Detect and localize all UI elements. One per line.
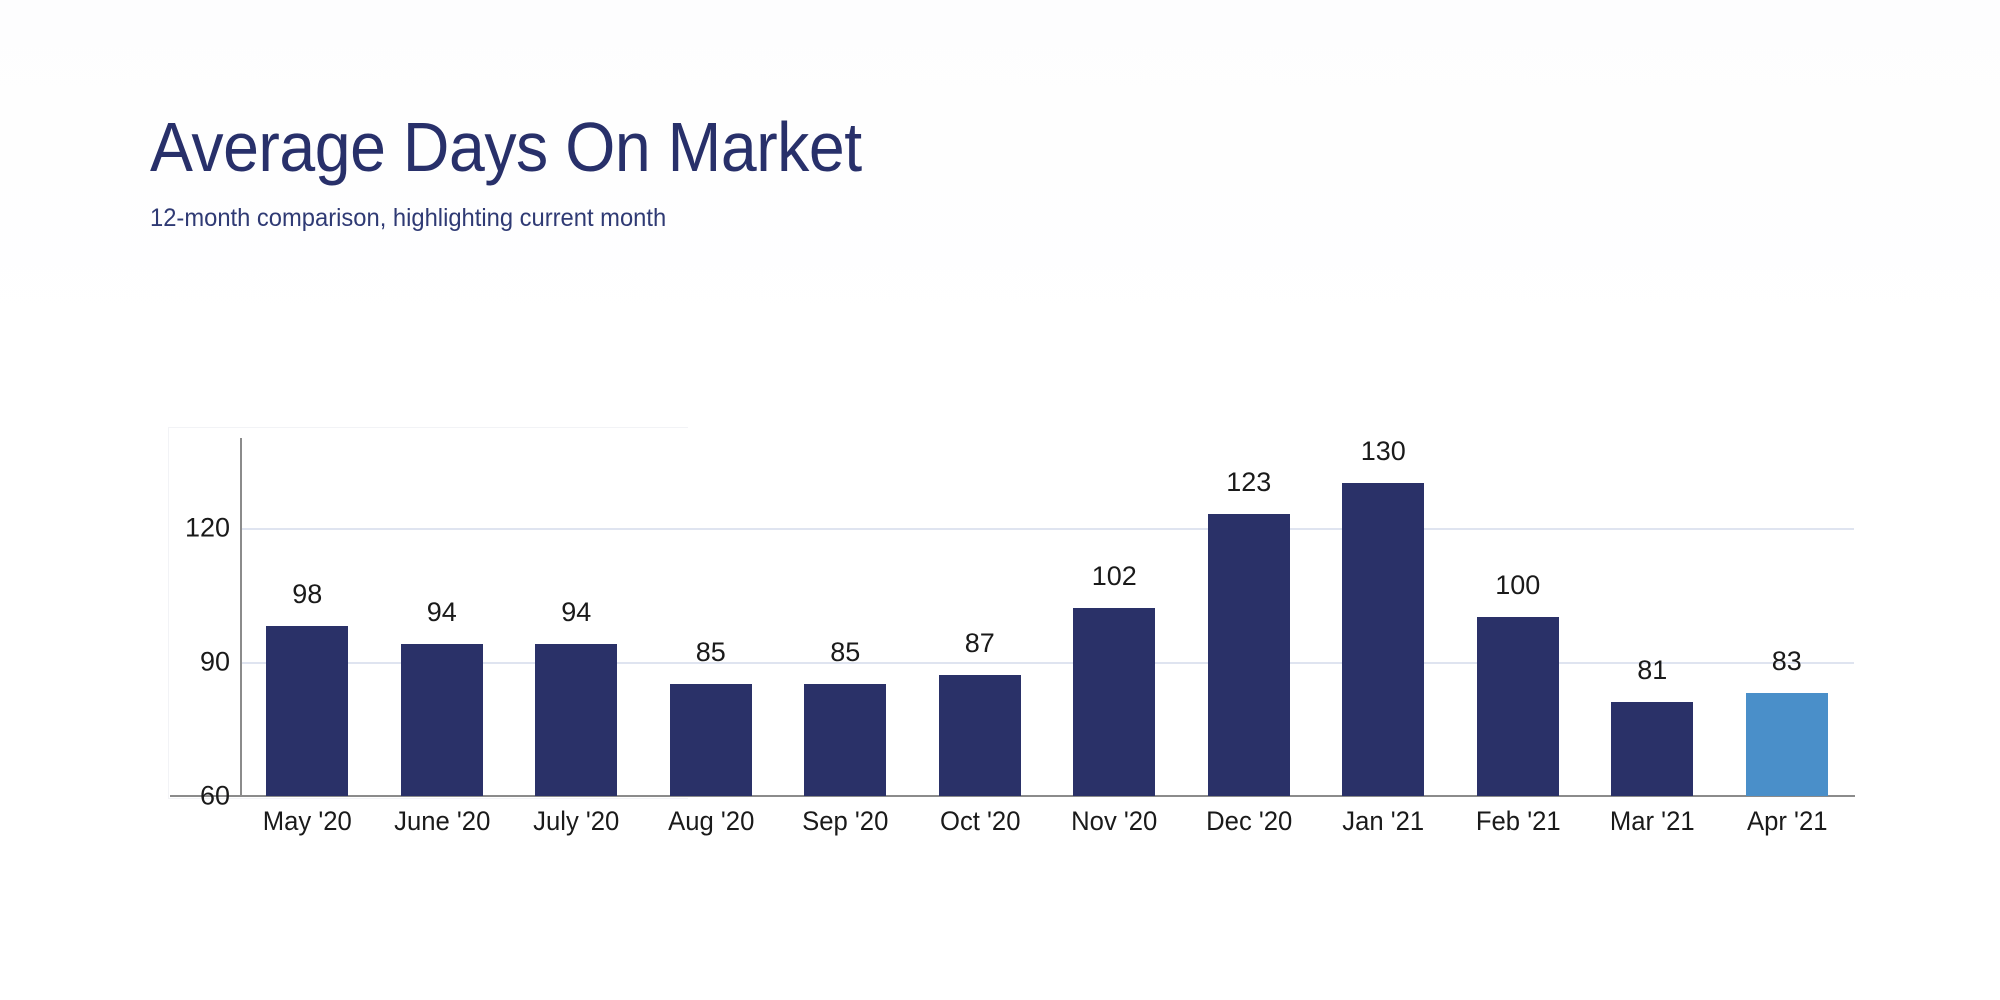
x-axis-tick-label: Aug '20: [647, 806, 775, 837]
x-axis-tick-labels: May '20June '20July '20Aug '20Sep '20Oct…: [240, 0, 1854, 1000]
x-axis-tick-label: Mar '21: [1588, 806, 1716, 837]
x-axis-tick-label: Oct '20: [916, 806, 1044, 837]
x-axis-tick-label: Feb '21: [1454, 806, 1582, 837]
x-axis-tick-label: July '20: [512, 806, 640, 837]
x-axis-tick-label: Nov '20: [1050, 806, 1178, 837]
bar-chart: 6090120 9894948585871021231301008183 May…: [0, 0, 2000, 1000]
y-axis-tick-label: 120: [150, 512, 230, 543]
y-axis-tick-labels: 6090120: [140, 0, 230, 1000]
x-axis-tick-label: May '20: [243, 806, 371, 837]
x-axis-tick-label: Jan '21: [1319, 806, 1447, 837]
x-axis-tick-label: Dec '20: [1185, 806, 1313, 837]
x-axis-tick-label: Sep '20: [781, 806, 909, 837]
x-axis-tick-label: June '20: [378, 806, 506, 837]
x-axis-tick-label: Apr '21: [1723, 806, 1851, 837]
y-axis-tick-label: 60: [150, 781, 230, 812]
y-axis-tick-label: 90: [150, 646, 230, 677]
